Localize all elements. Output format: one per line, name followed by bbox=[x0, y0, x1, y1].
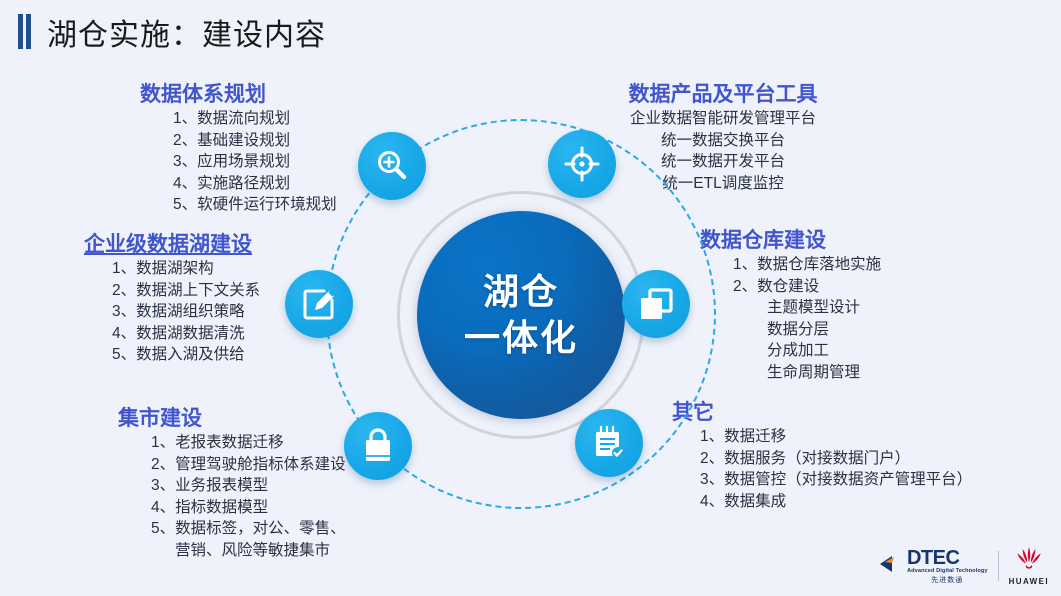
dtec-logo: DTEC Advanced Digital Technology 先进数通 bbox=[879, 548, 988, 584]
huawei-flower-icon bbox=[1013, 546, 1045, 576]
node-magnifier[interactable] bbox=[358, 132, 426, 200]
magnifier-plus-icon bbox=[373, 147, 411, 185]
node-crosshair[interactable] bbox=[548, 130, 616, 198]
center-hub-label-line1: 湖仓 bbox=[483, 271, 559, 312]
dtec-name: DTEC bbox=[907, 548, 988, 568]
node-notepad[interactable] bbox=[575, 409, 643, 477]
list-item: 3、数据湖组织策略 bbox=[112, 301, 260, 323]
list-item: 2、数据湖上下文关系 bbox=[112, 280, 260, 302]
list-item: 5、数据入湖及供给 bbox=[112, 344, 260, 366]
copy-windows-icon bbox=[637, 285, 675, 323]
shopping-bag-icon bbox=[359, 427, 397, 465]
block-enterprise-data-lake: 企业级数据湖建设 1、数据湖架构 2、数据湖上下文关系 3、数据湖组织策略 4、… bbox=[84, 232, 260, 366]
title-accent-bar-left bbox=[18, 14, 23, 49]
dtec-text-wrap: DTEC Advanced Digital Technology 先进数通 bbox=[907, 548, 988, 584]
crosshair-target-icon bbox=[563, 145, 601, 183]
notepad-check-icon bbox=[590, 424, 628, 462]
center-hub-circle: 湖仓 一体化 bbox=[417, 211, 625, 419]
list-item-continuation: 营销、风险等敏捷集市 bbox=[151, 540, 346, 562]
node-edit[interactable] bbox=[285, 270, 353, 338]
center-hub-label-line2: 一体化 bbox=[464, 317, 578, 358]
block-item-list: 1、数据湖架构 2、数据湖上下文关系 3、数据湖组织策略 4、数据湖数据清洗 5… bbox=[84, 258, 260, 366]
hub-and-spoke-diagram: 湖仓 一体化 bbox=[272, 105, 772, 525]
node-copy[interactable] bbox=[622, 270, 690, 338]
center-hub-label: 湖仓 一体化 bbox=[464, 269, 578, 361]
dtec-chinese-name: 先进数通 bbox=[907, 577, 988, 584]
title-accent-bar-right bbox=[26, 14, 31, 49]
huawei-name: HUAWEI bbox=[1009, 577, 1049, 586]
block-heading: 企业级数据湖建设 bbox=[84, 232, 260, 258]
pencil-edit-square-icon bbox=[300, 285, 338, 323]
dtec-tagline: Advanced Digital Technology bbox=[907, 569, 988, 575]
list-item: 4、数据湖数据清洗 bbox=[112, 323, 260, 345]
page-header: 湖仓实施：建设内容 bbox=[0, 0, 1061, 62]
list-item: 1、数据湖架构 bbox=[112, 258, 260, 280]
huawei-logo: HUAWEI bbox=[1009, 546, 1049, 586]
logo-divider bbox=[998, 551, 999, 581]
footer-logos: DTEC Advanced Digital Technology 先进数通 HU… bbox=[879, 544, 1049, 588]
node-shopping-bag[interactable] bbox=[344, 412, 412, 480]
page-title: 湖仓实施：建设内容 bbox=[47, 10, 326, 54]
dtec-mark-icon bbox=[879, 554, 905, 579]
